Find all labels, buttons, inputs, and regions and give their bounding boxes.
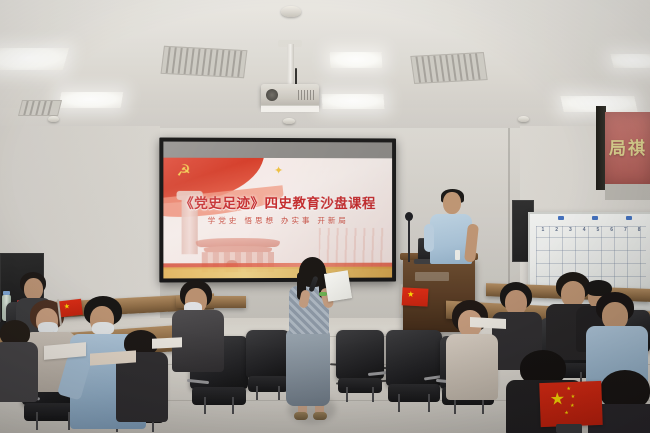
whiteboard-cell: 3 bbox=[564, 227, 578, 233]
chinese-flag: ★ bbox=[402, 287, 429, 306]
slide-gold-ribbon bbox=[163, 267, 392, 279]
whiteboard-header-row: 1 2 3 4 5 6 7 8 bbox=[536, 225, 646, 235]
office-chair bbox=[246, 330, 290, 400]
meeting-room-photo: 局祺 ☭ ✦ 《党史足迹》四史教育沙盘课程 学党史 悟思想 办实事 开新局 bbox=[0, 0, 650, 433]
wall-banner: 局祺 bbox=[605, 112, 650, 184]
ceiling-projector bbox=[261, 84, 319, 107]
ceiling-light-panel bbox=[59, 92, 124, 108]
projector-vent bbox=[298, 90, 314, 100]
projection-screen: ☭ ✦ 《党史足迹》四史教育沙盘课程 学党史 悟思想 办实事 开新局 bbox=[159, 138, 396, 283]
air-vent bbox=[410, 52, 487, 84]
flag-small-star-icon: ★ bbox=[566, 387, 571, 392]
flag-stand bbox=[556, 424, 582, 433]
projector-lens-icon bbox=[266, 89, 278, 101]
speaker-left-arm bbox=[424, 224, 434, 252]
whiteboard-cell: 8 bbox=[632, 227, 646, 233]
party-emblem-icon: ☭ bbox=[174, 163, 194, 181]
ceiling-light-panel bbox=[321, 94, 384, 109]
speaker-badge bbox=[455, 250, 460, 260]
slide-subtitle: 学党史 悟思想 办实事 开新局 bbox=[163, 215, 392, 226]
air-vent bbox=[18, 100, 62, 116]
flag-small-star-icon: ★ bbox=[571, 395, 576, 400]
presenter-script-paper bbox=[324, 270, 352, 301]
speaker-head bbox=[443, 192, 461, 214]
whiteboard-cell: 7 bbox=[619, 227, 633, 233]
whiteboard-cell: 4 bbox=[577, 227, 591, 233]
ceiling-sprinkler bbox=[283, 118, 295, 124]
projector-label-strip bbox=[261, 105, 319, 112]
whiteboard-cell: 2 bbox=[550, 227, 564, 233]
podium-plate bbox=[415, 272, 449, 281]
presenter-skirt bbox=[286, 330, 330, 406]
office-chair bbox=[386, 330, 442, 412]
screen-matte: ☭ ✦ 《党史足迹》四史教育沙盘课程 学党史 悟思想 办实事 开新局 bbox=[163, 142, 392, 279]
microphone-head-icon bbox=[405, 212, 413, 221]
ceiling-light-panel bbox=[0, 48, 69, 70]
whiteboard-cell: 5 bbox=[591, 227, 605, 233]
flag-small-star-icon: ★ bbox=[570, 404, 575, 409]
flag-star-icon: ★ bbox=[407, 291, 415, 299]
whiteboard-magnet bbox=[626, 216, 632, 220]
smoke-detector-icon bbox=[281, 6, 301, 17]
projector-pole bbox=[287, 44, 294, 84]
ceiling bbox=[0, 0, 650, 132]
flag-small-star-icon: ★ bbox=[564, 411, 569, 416]
slide-torch-icon: ✦ bbox=[274, 164, 283, 177]
banner-lower-panel bbox=[605, 184, 650, 200]
whiteboard-cell: 6 bbox=[605, 227, 619, 233]
wall-banner-text: 局祺 bbox=[609, 134, 650, 159]
wall-corner-seam bbox=[508, 128, 510, 308]
slide-title: 《党史足迹》四史教育沙盘课程 bbox=[163, 192, 392, 212]
flag-star-icon: ★ bbox=[63, 303, 70, 311]
whiteboard-magnet bbox=[558, 216, 564, 220]
office-chair bbox=[336, 330, 384, 402]
ceiling-light-panel bbox=[610, 54, 650, 68]
ceiling-light-panel bbox=[330, 52, 383, 68]
ceiling-sprinkler bbox=[518, 116, 529, 122]
presenter-shoe bbox=[313, 412, 327, 420]
paper-document bbox=[152, 337, 182, 349]
whiteboard-cell: 1 bbox=[536, 227, 550, 233]
presenter-wristband bbox=[319, 292, 327, 296]
paper-document bbox=[470, 317, 506, 329]
chinese-flag: ★ ★ ★ ★ ★ bbox=[539, 381, 602, 427]
presenter-shoe bbox=[294, 412, 308, 420]
flag-star-icon: ★ bbox=[550, 390, 566, 408]
gooseneck-microphone bbox=[408, 218, 410, 262]
presentation-slide: ☭ ✦ 《党史足迹》四史教育沙盘课程 学党史 悟思想 办实事 开新局 bbox=[163, 158, 392, 279]
chinese-flag: ★ bbox=[59, 299, 83, 318]
ceiling-sprinkler bbox=[48, 116, 59, 122]
whiteboard-magnet bbox=[592, 216, 598, 220]
air-vent bbox=[161, 46, 248, 78]
